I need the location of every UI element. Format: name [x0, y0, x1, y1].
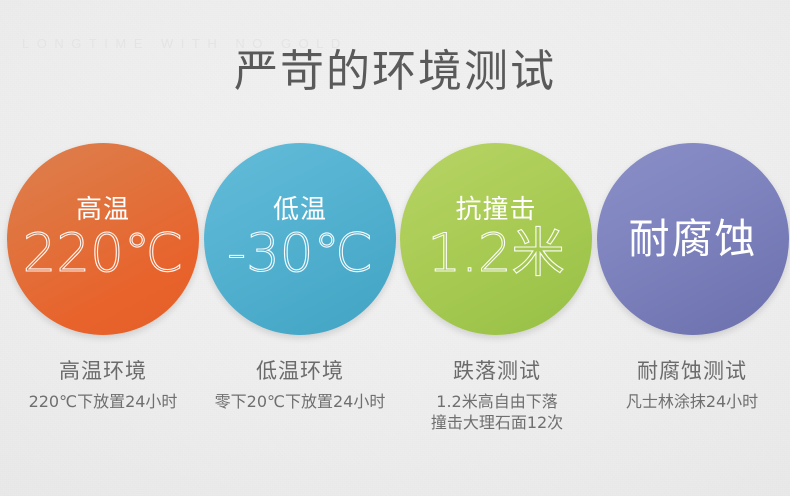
caption-line: 220℃下放置24小时 [3, 391, 203, 412]
caption-subtext: 凡士林涂抹24小时 [592, 391, 790, 412]
caption-corrosion-resistance: 耐腐蚀测试 凡士林涂抹24小时 [592, 358, 790, 412]
caption-row: 高温环境 220℃下放置24小时 低温环境 零下20℃下放置24小时 跌落测试 … [0, 358, 790, 458]
feature-circle-row: 高温 220℃ 低温 -30℃ 抗撞击 1.2米 耐腐蚀 [0, 143, 790, 339]
caption-line: 1.2米高自由下落 [397, 391, 597, 412]
caption-impact-resistance: 跌落测试 1.2米高自由下落 撞击大理石面12次 [397, 358, 597, 433]
caption-high-temperature: 高温环境 220℃下放置24小时 [3, 358, 203, 412]
circle-label: 抗撞击 [455, 195, 536, 225]
caption-subtext: 220℃下放置24小时 [3, 391, 203, 412]
caption-subtext: 零下20℃下放置24小时 [200, 391, 400, 412]
caption-title: 低温环境 [200, 358, 400, 384]
circle-value: 1.2米 [427, 224, 564, 284]
caption-subtext: 1.2米高自由下落 撞击大理石面12次 [397, 391, 597, 433]
caption-low-temperature: 低温环境 零下20℃下放置24小时 [200, 358, 400, 412]
caption-line: 撞击大理石面12次 [397, 412, 597, 433]
feature-circle-corrosion-resistance: 耐腐蚀 [597, 143, 789, 335]
caption-title: 跌落测试 [397, 358, 597, 384]
circle-value: -30℃ [227, 224, 373, 284]
feature-circle-impact-resistance: 抗撞击 1.2米 [400, 143, 592, 335]
circle-value: 220℃ [23, 224, 184, 284]
feature-circle-high-temperature: 高温 220℃ [7, 143, 199, 335]
caption-line: 凡士林涂抹24小时 [592, 391, 790, 412]
circle-label: 耐腐蚀 [629, 215, 758, 263]
page-title: 严苛的环境测试 [0, 46, 790, 98]
caption-title: 高温环境 [3, 358, 203, 384]
caption-line: 零下20℃下放置24小时 [200, 391, 400, 412]
caption-title: 耐腐蚀测试 [592, 358, 790, 384]
circle-label: 高温 [76, 195, 130, 225]
circle-label: 低温 [273, 195, 327, 225]
promo-banner: LONGTIME WITH NO GOLD 严苛的环境测试 高温 220℃ 低温… [0, 0, 790, 496]
feature-circle-low-temperature: 低温 -30℃ [204, 143, 396, 335]
